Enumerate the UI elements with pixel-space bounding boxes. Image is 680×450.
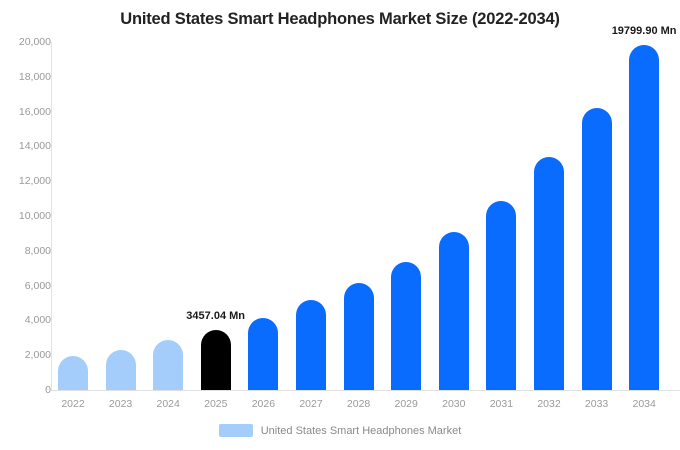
y-axis-tick-label: 6,000 xyxy=(5,280,51,292)
y-axis-tick-label: 2,000 xyxy=(5,349,51,361)
bar-2032[interactable] xyxy=(534,42,564,390)
x-axis-line xyxy=(51,390,680,391)
y-axis-tick-label: 20,000 xyxy=(5,36,51,48)
y-axis-tick-label: 12,000 xyxy=(5,175,51,187)
x-axis-tick-label: 2034 xyxy=(614,398,674,410)
bar-rect xyxy=(106,350,136,390)
plot-area xyxy=(51,42,680,390)
bar-2031[interactable] xyxy=(486,42,516,390)
bar-2029[interactable] xyxy=(391,42,421,390)
y-axis-tick-label: 16,000 xyxy=(5,106,51,118)
bar-2022[interactable] xyxy=(58,42,88,390)
bar-rect xyxy=(153,340,183,390)
bar-rect xyxy=(201,330,231,390)
y-axis-tick-label: 8,000 xyxy=(5,245,51,257)
bar-rect xyxy=(534,157,564,390)
bar-2024[interactable] xyxy=(153,42,183,390)
bar-rect xyxy=(248,318,278,390)
y-axis-tick-label: 4,000 xyxy=(5,314,51,326)
bar-2025[interactable] xyxy=(201,42,231,390)
bar-rect xyxy=(296,300,326,390)
y-axis-tick-label: 14,000 xyxy=(5,140,51,152)
data-label-2034: 19799.90 Mn xyxy=(612,25,677,37)
bar-2026[interactable] xyxy=(248,42,278,390)
bar-2027[interactable] xyxy=(296,42,326,390)
y-axis-tick-label: 0 xyxy=(5,384,51,396)
bar-2030[interactable] xyxy=(439,42,469,390)
legend-swatch-icon xyxy=(219,424,253,437)
bar-2028[interactable] xyxy=(344,42,374,390)
y-axis: 02,0004,0006,0008,00010,00012,00014,0001… xyxy=(0,0,51,450)
y-axis-tick-label: 18,000 xyxy=(5,71,51,83)
y-axis-tick-label: 10,000 xyxy=(5,210,51,222)
bar-chart: United States Smart Headphones Market Si… xyxy=(0,0,680,450)
bar-rect xyxy=(391,262,421,390)
legend-label: United States Smart Headphones Market xyxy=(261,425,462,437)
chart-legend: United States Smart Headphones Market xyxy=(0,424,680,437)
bar-rect xyxy=(629,45,659,390)
bar-rect xyxy=(439,232,469,390)
bar-rect xyxy=(582,108,612,390)
legend-item[interactable]: United States Smart Headphones Market xyxy=(219,424,462,437)
bar-rect xyxy=(344,283,374,390)
chart-title: United States Smart Headphones Market Si… xyxy=(0,10,680,29)
bar-rect xyxy=(486,201,516,390)
data-label-2025: 3457.04 Mn xyxy=(186,310,245,322)
bar-2033[interactable] xyxy=(582,42,612,390)
bar-rect xyxy=(58,356,88,390)
bar-2023[interactable] xyxy=(106,42,136,390)
bar-2034[interactable] xyxy=(629,42,659,390)
